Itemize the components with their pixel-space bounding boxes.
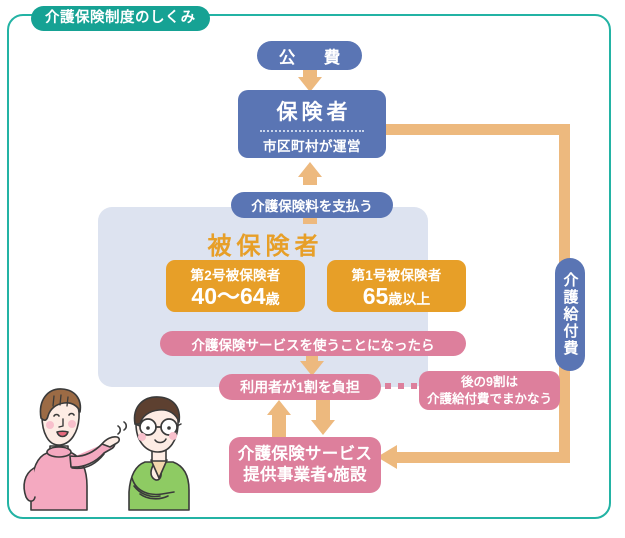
dotted-connector bbox=[385, 382, 417, 389]
node-benefit-cost-label: 介護給付費 bbox=[560, 272, 581, 357]
arrow-premium-to-insurer-head bbox=[298, 162, 322, 177]
node-insured-category-1-age: 65歳以上 bbox=[363, 285, 431, 308]
dot bbox=[411, 383, 417, 389]
node-benefit-cost[interactable]: 介護給付費 bbox=[555, 258, 585, 371]
node-remainder-line1: 後の9割は bbox=[461, 374, 518, 391]
arrow-insured-to-premium-stem bbox=[303, 218, 317, 224]
arrow-provider-to-burden-stem bbox=[272, 412, 286, 437]
insured-heading: 被保険者 bbox=[98, 226, 428, 261]
node-remainder[interactable]: 後の9割は 介護給付費でまかなう bbox=[419, 371, 560, 410]
node-pay-premium[interactable]: 介護保険料を支払う bbox=[231, 192, 393, 218]
node-pay-premium-label: 介護保険料を支払う bbox=[251, 195, 373, 215]
node-service-provider[interactable]: 介護保険サービス 提供事業者・施設 bbox=[229, 437, 381, 493]
dot bbox=[385, 383, 391, 389]
diagram-canvas: 介護保険制度のしくみ 公 費 保険者 市区町村が運営 介護保険料を支払う 被保険… bbox=[0, 0, 625, 538]
node-user-burden[interactable]: 利用者が1割を負担 bbox=[219, 374, 381, 400]
node-public-funds[interactable]: 公 費 bbox=[257, 41, 362, 70]
node-insured-category-1[interactable]: 第1号被保険者 65歳以上 bbox=[327, 260, 466, 312]
node-service-provider-line2: 提供事業者・施設 bbox=[243, 465, 367, 486]
age-suffix: 歳 bbox=[266, 291, 280, 307]
node-insurer-title: 保険者 bbox=[273, 96, 352, 126]
age-suffix: 歳以上 bbox=[388, 291, 430, 307]
flow-path-bottom-horizontal bbox=[395, 452, 570, 463]
node-when-using-service-label: 介護保険サービスを使うことになったら bbox=[192, 334, 435, 354]
flow-path-top-horizontal bbox=[386, 124, 570, 135]
node-public-funds-label: 公 費 bbox=[273, 44, 347, 68]
node-remainder-line2: 介護給付費でまかなう bbox=[427, 391, 552, 408]
age-value: 40〜64 bbox=[191, 283, 265, 309]
diagram-title: 介護保険制度のしくみ bbox=[31, 6, 210, 31]
arrow-burden-to-provider-head bbox=[311, 420, 335, 435]
people-illustration bbox=[14, 382, 214, 512]
node-insured-category-2[interactable]: 第2号被保険者 40〜64歳 bbox=[166, 260, 305, 312]
arrow-provider-to-burden-head bbox=[267, 400, 291, 415]
node-service-provider-line1: 介護保険サービス bbox=[238, 444, 372, 465]
node-when-using-service[interactable]: 介護保険サービスを使うことになったら bbox=[160, 331, 466, 356]
node-insurer-subtitle: 市区町村が運営 bbox=[263, 135, 361, 155]
dot bbox=[398, 383, 404, 389]
node-user-burden-label: 利用者が1割を負担 bbox=[240, 377, 360, 397]
node-insurer-divider bbox=[260, 130, 364, 132]
age-value: 65 bbox=[363, 283, 389, 309]
node-insurer[interactable]: 保険者 市区町村が運営 bbox=[238, 90, 386, 158]
node-insured-category-2-age: 40〜64歳 bbox=[191, 285, 279, 308]
node-insured-category-1-title: 第1号被保険者 bbox=[352, 264, 442, 284]
node-insured-category-2-title: 第2号被保険者 bbox=[191, 264, 281, 284]
